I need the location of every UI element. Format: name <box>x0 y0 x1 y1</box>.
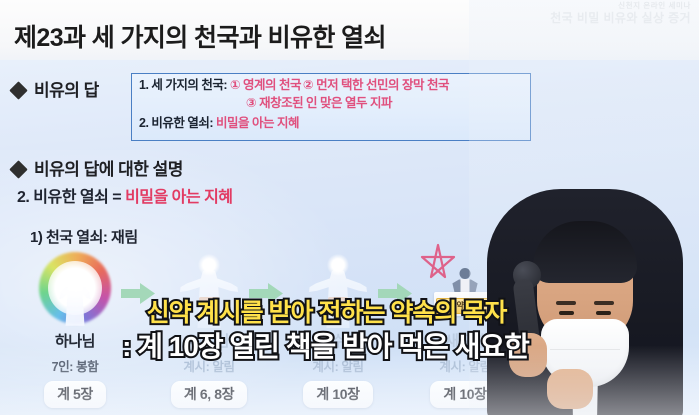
slide-screenshot: 신천지 온라인 세미나 천국 비밀 비유와 실상 증거 제23과 세 가지의 천… <box>0 0 699 415</box>
answer-box-line-3: 2. 비유한 열쇠: 비밀을 아는 지혜 <box>139 117 523 130</box>
watermark-subtitle: 신천지 온라인 세미나 <box>550 2 691 11</box>
answer-box-line-2: ③ 재창조된 인 맞은 열두 지파 <box>139 97 523 110</box>
subtitle-overlay: 신약 계시를 받아 전하는 약속의 목자 : 계 10장 열린 책을 받아 먹은… <box>0 300 699 361</box>
diagram-column-reference: 계 10장 <box>430 381 499 408</box>
answer-line3-answer: 비밀을 아는 지혜 <box>216 116 299 130</box>
watermark: 신천지 온라인 세미나 천국 비밀 비유와 실상 증거 <box>550 2 691 25</box>
answer-line1-item2: ② 먼저 택한 선민의 장막 천국 <box>303 78 449 92</box>
diagram-column-reference: 계 10장 <box>303 381 372 408</box>
explanation-item-2: 2. 비유한 열쇠 = 비밀을 아는 지혜 <box>17 183 233 207</box>
halo-icon <box>198 254 220 276</box>
diagram-column-reference: 계 6, 8장 <box>171 381 247 408</box>
answer-box: 1. 세 가지의 천국: ① 영계의 천국② 먼저 택한 선민의 장막 천국 ③… <box>131 73 531 141</box>
diamond-bullet-icon <box>9 81 27 99</box>
speaker-head <box>460 268 471 279</box>
star-icon <box>418 242 458 282</box>
halo-icon <box>327 254 349 276</box>
answer-line3-prefix: 2. 비유한 열쇠: <box>139 116 216 130</box>
answer-line1-item1: ① 영계의 천국 <box>230 78 301 92</box>
explanation-item-2-1: 1) 천국 열쇠: 재림 <box>30 226 138 247</box>
diagram-column-reference: 계 5장 <box>44 381 106 408</box>
section-heading-answer-label: 비유의 답 <box>34 81 99 100</box>
subtitle-line-1: 신약 계시를 받아 전하는 약속의 목자 <box>0 300 699 327</box>
subtitle-line-2: : 계 10장 열린 책을 받아 먹은 새요한 <box>0 332 699 362</box>
answer-line1-prefix: 1. 세 가지의 천국: <box>139 78 230 92</box>
section-heading-explanation: 비유의 답에 대한 설명 <box>12 155 183 180</box>
answer-box-line-1: 1. 세 가지의 천국: ① 영계의 천국② 먼저 택한 선민의 장막 천국 <box>139 79 523 92</box>
diamond-bullet-icon <box>9 160 27 178</box>
watermark-title: 천국 비밀 비유와 실상 증거 <box>550 12 691 26</box>
page-title: 제23과 세 가지의 천국과 비유한 열쇠 <box>14 18 386 54</box>
section-heading-answer: 비유의 답 <box>12 76 99 101</box>
explanation-item-2-prefix: 2. 비유한 열쇠 = <box>17 189 125 206</box>
explanation-item-2-answer: 비밀을 아는 지혜 <box>125 189 232 206</box>
section-heading-explanation-label: 비유의 답에 대한 설명 <box>34 160 183 179</box>
